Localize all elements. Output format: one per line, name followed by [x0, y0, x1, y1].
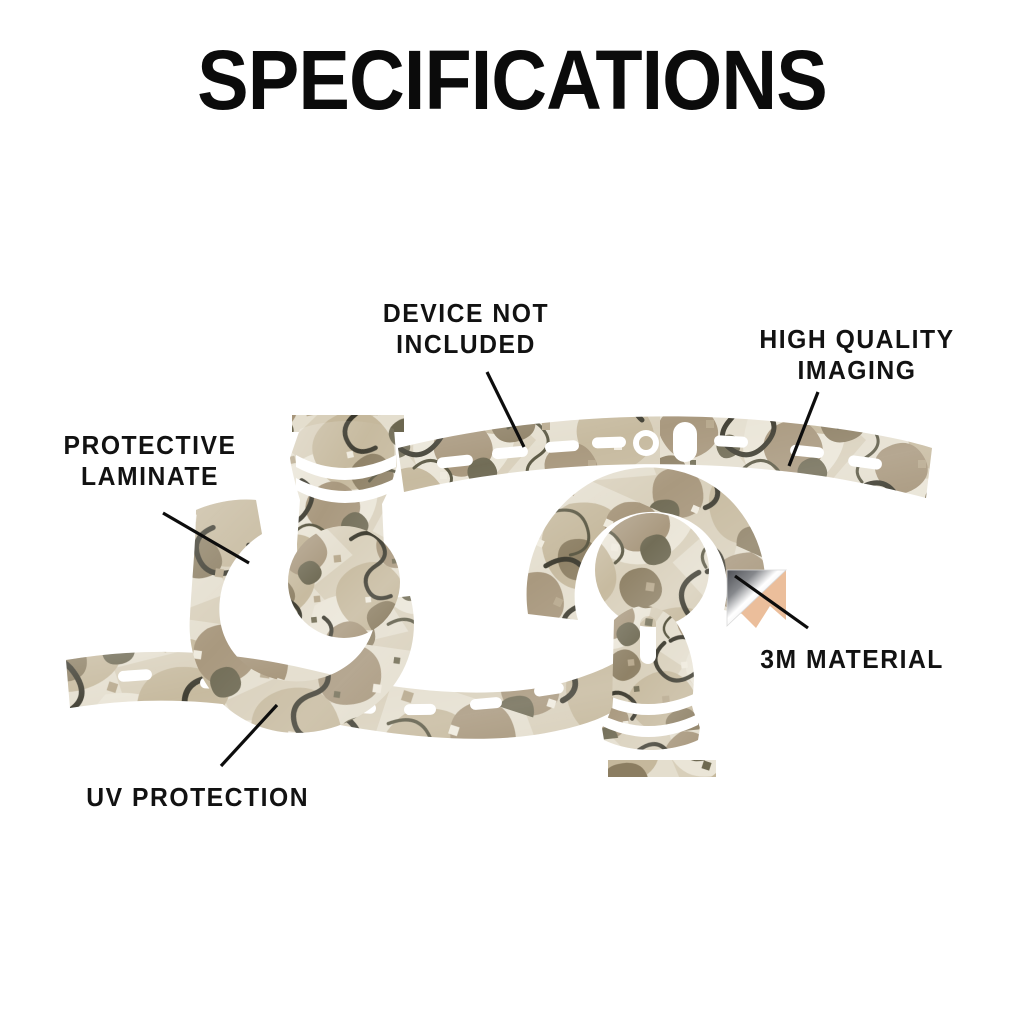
product-exploded-diagram — [0, 0, 1024, 1024]
callout-high-quality-imaging: HIGH QUALITY IMAGING — [729, 324, 986, 386]
part-bottom-tab — [595, 600, 710, 755]
part-left-disc — [288, 526, 400, 638]
callout-device-not-included: DEVICE NOT INCLUDED — [325, 298, 606, 360]
callout-protective-laminate: PROTECTIVE LAMINATE — [17, 430, 283, 492]
callout-uv-protection: UV PROTECTION — [86, 782, 400, 813]
part-bottom-tab-bar — [608, 760, 716, 777]
callout-3m-material: 3M MATERIAL — [760, 644, 1024, 675]
specifications-page: SPECIFICATIONS — [0, 0, 1024, 1024]
